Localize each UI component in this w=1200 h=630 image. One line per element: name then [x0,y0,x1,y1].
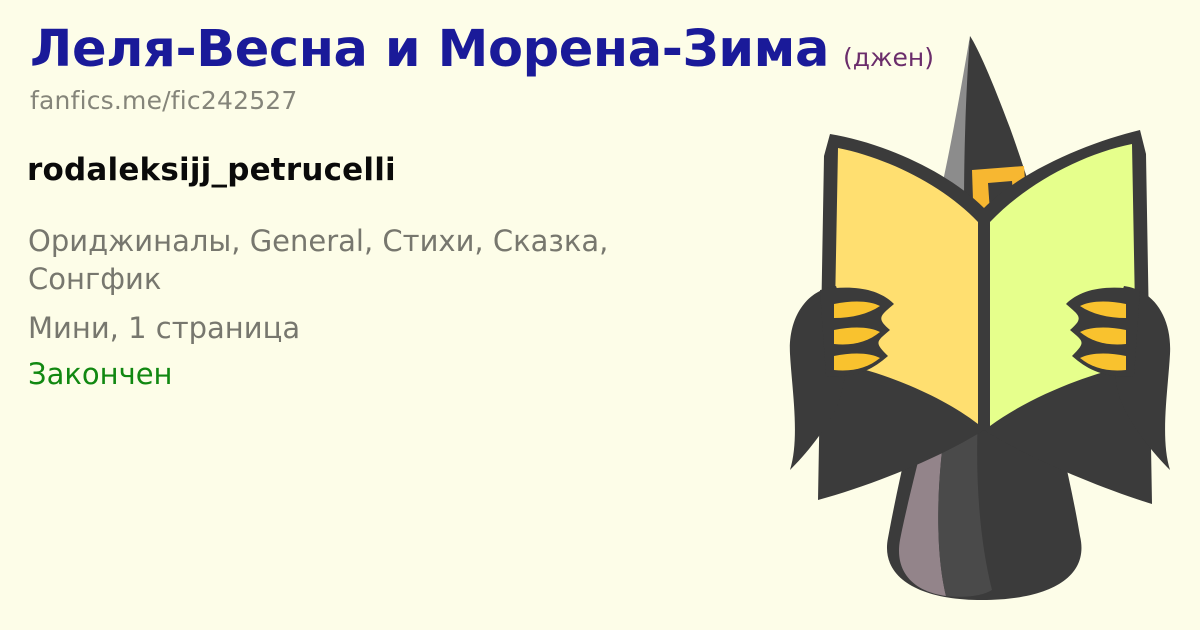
fic-tags: Ориджиналы, General, Стихи, Сказка, Сонг… [28,222,668,299]
fic-metadata: Ориджиналы, General, Стихи, Сказка, Сонг… [28,222,728,393]
source-url: fanfics.me/fic242527 [30,86,298,115]
fic-size: Мини, 1 страница [28,309,728,347]
fic-status-badge: Закончен [28,355,728,393]
genre-tag: (джен) [843,43,934,72]
card-text-layer: Леля-Весна и Морена-Зима (джен) fanfics.… [0,0,1200,630]
title-row: Леля-Весна и Морена-Зима (джен) [30,22,1040,77]
author-name: rodaleksijj_petrucelli [27,152,396,188]
page-title: Леля-Весна и Морена-Зима [30,22,829,77]
social-share-card: Леля-Весна и Морена-Зима (джен) fanfics.… [0,0,1200,630]
